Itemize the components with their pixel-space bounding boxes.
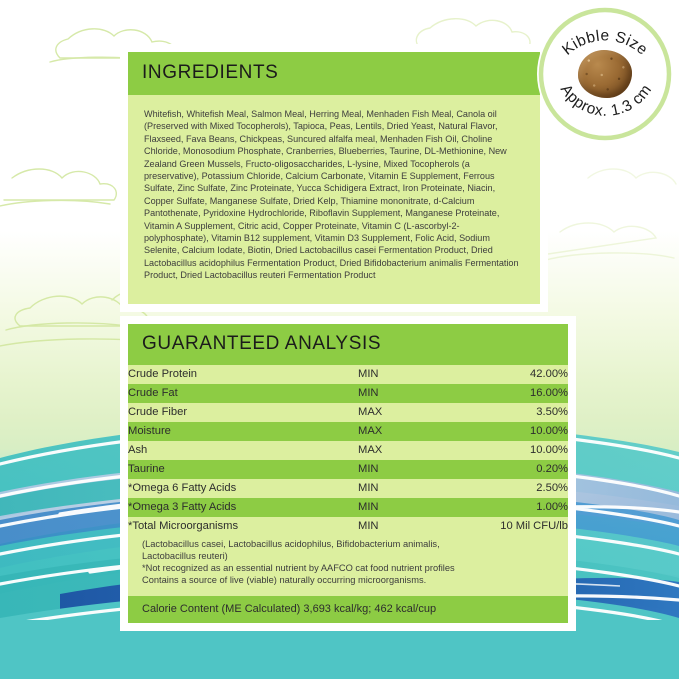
nutrient-value: 10.00% <box>450 441 568 460</box>
footnote-line: *Not recognized as an essential nutrient… <box>142 562 554 574</box>
nutrient-value: 10 Mil CFU/lb <box>450 517 568 536</box>
guaranteed-analysis-table: Crude ProteinMIN42.00%Crude FatMIN16.00%… <box>128 365 568 536</box>
analysis-row: MoistureMAX10.00% <box>128 422 568 441</box>
ingredients-header: INGREDIENTS <box>128 52 540 95</box>
nutrient-name: Taurine <box>128 460 358 479</box>
nutrient-value: 0.20% <box>450 460 568 479</box>
calorie-content-bar: Calorie Content (ME Calculated) 3,693 kc… <box>128 596 568 623</box>
analysis-row: Crude ProteinMIN42.00% <box>128 365 568 384</box>
nutrient-basis: MIN <box>358 479 450 498</box>
analysis-row: AshMAX10.00% <box>128 441 568 460</box>
nutrient-value: 42.00% <box>450 365 568 384</box>
analysis-row: *Omega 6 Fatty AcidsMIN2.50% <box>128 479 568 498</box>
ingredients-list-text: Whitefish, Whitefish Meal, Salmon Meal, … <box>128 95 540 304</box>
nutrient-name: Crude Protein <box>128 365 358 384</box>
nutrient-basis: MAX <box>358 403 450 422</box>
footnote-line: Lactobacillus reuteri) <box>142 550 554 562</box>
footnote-line: Contains a source of live (viable) natur… <box>142 574 554 586</box>
kibble-size-badge: Kibble Size Approx. 1.3 cm <box>535 4 675 144</box>
analysis-row: TaurineMIN0.20% <box>128 460 568 479</box>
nutrient-name: Crude Fiber <box>128 403 358 422</box>
nutrient-name: *Omega 6 Fatty Acids <box>128 479 358 498</box>
nutrient-name: *Total Microorganisms <box>128 517 358 536</box>
analysis-row: *Total MicroorganismsMIN10 Mil CFU/lb <box>128 517 568 536</box>
nutrient-value: 1.00% <box>450 498 568 517</box>
analysis-row: Crude FiberMAX3.50% <box>128 403 568 422</box>
label-artwork: INGREDIENTS Whitefish, Whitefish Meal, S… <box>0 0 679 679</box>
analysis-row: Crude FatMIN16.00% <box>128 384 568 403</box>
ingredients-heading: INGREDIENTS <box>142 62 278 83</box>
nutrient-basis: MIN <box>358 498 450 517</box>
nutrient-basis: MIN <box>358 517 450 536</box>
analysis-row: *Omega 3 Fatty AcidsMIN1.00% <box>128 498 568 517</box>
nutrient-value: 10.00% <box>450 422 568 441</box>
footnote-line: (Lactobacillus casei, Lactobacillus acid… <box>142 538 554 550</box>
nutrient-basis: MIN <box>358 365 450 384</box>
nutrient-basis: MAX <box>358 441 450 460</box>
guaranteed-analysis-panel: GUARANTEED ANALYSIS Crude ProteinMIN42.0… <box>120 316 576 631</box>
analysis-heading: GUARANTEED ANALYSIS <box>142 333 381 354</box>
nutrient-basis: MIN <box>358 384 450 403</box>
kibble-piece-image <box>578 50 632 98</box>
ingredients-panel: INGREDIENTS Whitefish, Whitefish Meal, S… <box>120 44 548 312</box>
nutrient-name: Moisture <box>128 422 358 441</box>
nutrient-value: 3.50% <box>450 403 568 422</box>
nutrient-value: 2.50% <box>450 479 568 498</box>
nutrient-name: Ash <box>128 441 358 460</box>
analysis-header: GUARANTEED ANALYSIS <box>128 324 568 365</box>
analysis-footnotes: (Lactobacillus casei, Lactobacillus acid… <box>128 536 568 596</box>
nutrient-basis: MIN <box>358 460 450 479</box>
guaranteed-analysis-card: GUARANTEED ANALYSIS Crude ProteinMIN42.0… <box>128 324 568 623</box>
nutrient-value: 16.00% <box>450 384 568 403</box>
nutrient-name: *Omega 3 Fatty Acids <box>128 498 358 517</box>
nutrient-basis: MAX <box>358 422 450 441</box>
nutrient-name: Crude Fat <box>128 384 358 403</box>
ingredients-card: INGREDIENTS Whitefish, Whitefish Meal, S… <box>128 52 540 304</box>
